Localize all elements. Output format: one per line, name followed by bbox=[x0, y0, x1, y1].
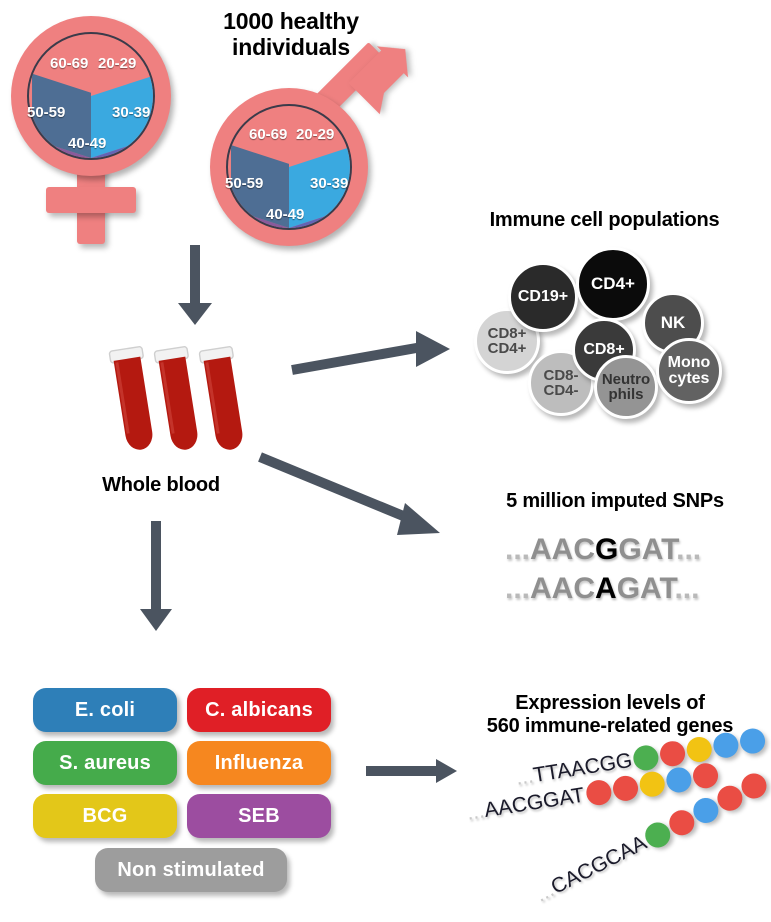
pie-label-60-69: 60-69 bbox=[249, 126, 287, 143]
pie-label-50-59: 50-59 bbox=[225, 175, 263, 192]
blood-tube bbox=[154, 346, 203, 452]
expression-bead bbox=[739, 727, 768, 756]
stimulation-label: SEB bbox=[238, 805, 280, 828]
snp-variant-allele: A bbox=[595, 572, 617, 605]
snp-prefix: ... bbox=[505, 572, 530, 605]
snp-suffix: ... bbox=[676, 533, 701, 566]
expression-section-title: Expression levels of 560 immune-related … bbox=[450, 692, 770, 738]
stimulation-label: S. aureus bbox=[59, 752, 151, 775]
male-gender-symbol: 20-29 30-39 40-49 50-59 60-69 bbox=[208, 62, 418, 252]
immune-cell-cd4pos: CD4+ bbox=[576, 247, 650, 321]
expression-bead bbox=[611, 774, 640, 803]
female-symbol-crossbar bbox=[46, 187, 136, 213]
immune-cell-neutrophils: Neutrophils bbox=[594, 355, 658, 419]
snp-left: AAC bbox=[530, 572, 595, 605]
immune-cell-monocytes: Monocytes bbox=[656, 338, 722, 404]
arrow-blood-to-snps bbox=[255, 445, 470, 550]
pie-label-60-69: 60-69 bbox=[50, 55, 88, 72]
stimulation-saureus[interactable]: S. aureus bbox=[33, 741, 177, 785]
arrow-blood-to-immune bbox=[290, 325, 470, 385]
expression-bead bbox=[659, 739, 688, 768]
female-gender-symbol: 20-29 30-39 40-49 50-59 60-69 bbox=[8, 14, 188, 244]
stimulation-label: BCG bbox=[82, 805, 127, 828]
stimulation-non-stimulated[interactable]: Non stimulated bbox=[95, 848, 287, 892]
stimulation-label: Influenza bbox=[215, 752, 303, 775]
immune-cell-label: CD8-CD4- bbox=[543, 368, 578, 399]
immune-cell-label: CD8+CD4+ bbox=[488, 326, 527, 357]
snp-sequence-row: ...AACGGAT... bbox=[505, 533, 701, 567]
pie-label-20-29: 20-29 bbox=[98, 55, 136, 72]
blood-tube bbox=[109, 346, 158, 452]
pie-label-50-59: 50-59 bbox=[27, 104, 65, 121]
snp-right: GAT bbox=[618, 533, 676, 566]
expression-bead bbox=[685, 735, 714, 764]
pie-label-40-49: 40-49 bbox=[266, 206, 304, 223]
stimulation-ecoli[interactable]: E. coli bbox=[33, 688, 177, 732]
pie-label-30-39: 30-39 bbox=[310, 175, 348, 192]
immune-cell-label: Monocytes bbox=[668, 355, 711, 388]
expression-bead bbox=[638, 770, 667, 799]
stimulation-label: C. albicans bbox=[205, 699, 313, 722]
whole-blood-label: Whole blood bbox=[86, 474, 236, 497]
expression-bead bbox=[584, 778, 613, 807]
expression-title-line1: Expression levels of bbox=[450, 692, 770, 715]
snp-left: AAC bbox=[530, 533, 595, 566]
stimulation-bcg[interactable]: BCG bbox=[33, 794, 177, 838]
immune-cell-label: CD19+ bbox=[518, 289, 568, 305]
immune-section-title: Immune cell populations bbox=[452, 209, 757, 232]
immune-cell-label: NK bbox=[661, 314, 686, 331]
page-title-line1: 1000 healthy bbox=[186, 8, 396, 34]
male-symbol-arrowhead bbox=[348, 50, 426, 128]
snp-variant-allele: G bbox=[595, 533, 618, 566]
stimulation-label: E. coli bbox=[75, 699, 135, 722]
pie-label-40-49: 40-49 bbox=[68, 135, 106, 152]
snp-prefix: ... bbox=[505, 533, 530, 566]
pie-label-20-29: 20-29 bbox=[296, 126, 334, 143]
stimulation-label: Non stimulated bbox=[117, 859, 264, 882]
expression-bead bbox=[691, 761, 720, 790]
pie-label-30-39: 30-39 bbox=[112, 104, 150, 121]
whole-blood-group bbox=[95, 340, 275, 470]
expression-bead bbox=[664, 766, 693, 795]
stimulation-calbicans[interactable]: C. albicans bbox=[187, 688, 331, 732]
expression-bead bbox=[632, 744, 661, 773]
blood-tube bbox=[199, 346, 248, 452]
immune-cell-label: CD4+ bbox=[591, 275, 635, 292]
stimulation-influenza[interactable]: Influenza bbox=[187, 741, 331, 785]
snp-right: GAT bbox=[617, 572, 675, 605]
expression-bead bbox=[712, 731, 741, 760]
expression-sequence: ...CACGCAA bbox=[532, 831, 651, 907]
immune-cell-cd19pos: CD19+ bbox=[508, 262, 578, 332]
snp-suffix: ... bbox=[674, 572, 699, 605]
snp-sequence-row: ...AACAGAT... bbox=[505, 572, 699, 606]
stimulation-seb[interactable]: SEB bbox=[187, 794, 331, 838]
immune-cell-label: Neutrophils bbox=[602, 372, 650, 403]
snps-section-title: 5 million imputed SNPs bbox=[465, 490, 765, 513]
